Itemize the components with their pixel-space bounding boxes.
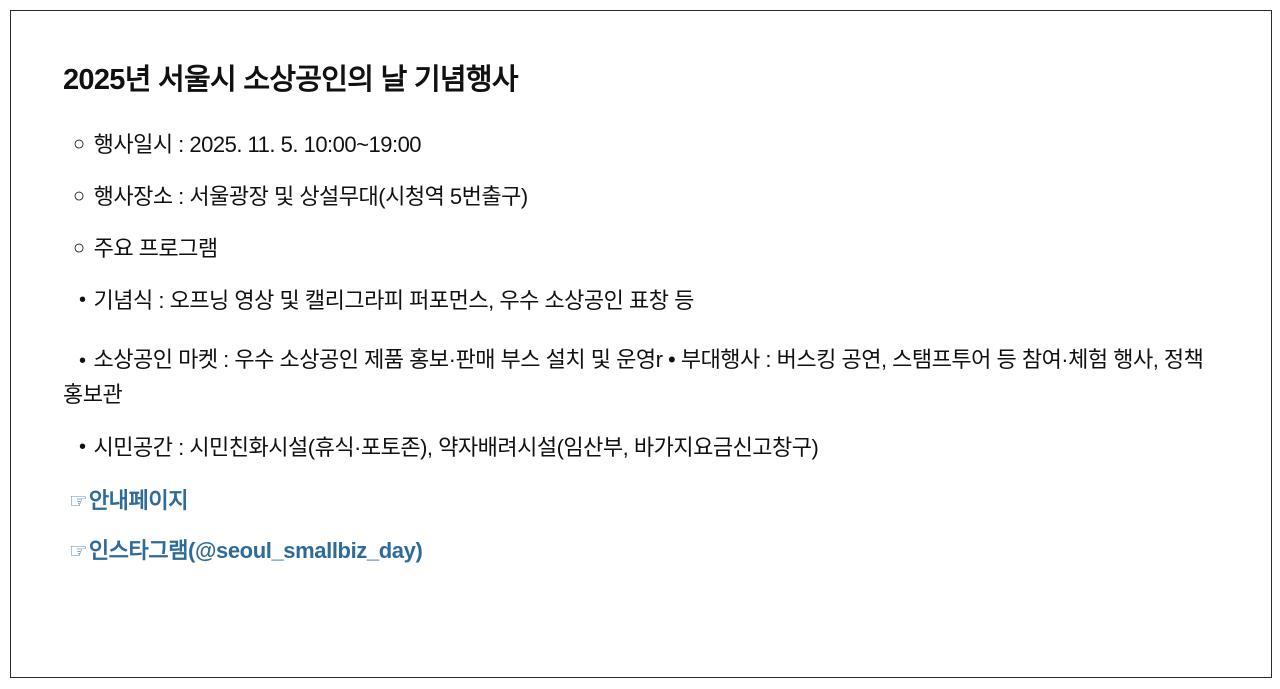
program-item-ceremony: • 기념식 : 오프닝 영상 및 캘리그라피 퍼포먼스, 우수 소상공인 표창 …: [63, 290, 1249, 312]
link-instagram[interactable]: 인스타그램(@seoul_smallbiz_day): [89, 539, 423, 563]
circle-marker-icon: ○: [73, 238, 85, 259]
link-guide-page[interactable]: 안내페이지: [89, 489, 188, 513]
info-row-date-text: 행사일시 : 2025. 11. 5. 10:00~19:00: [94, 134, 421, 156]
link-row-guide-page[interactable]: ☞ 안내페이지: [63, 489, 1249, 513]
info-row-programs-heading-text: 주요 프로그램: [94, 238, 218, 260]
program-item-citizen-space: • 시민공간 : 시민친화시설(휴식·포토존), 약자배려시설(임산부, 바가지…: [63, 437, 1249, 459]
info-row-venue: ○ 행사장소 : 서울광장 및 상설무대(시청역 5번출구): [63, 186, 1249, 208]
info-row-venue-text: 행사장소 : 서울광장 및 상설무대(시청역 5번출구): [94, 186, 528, 208]
pointing-hand-icon: ☞: [69, 541, 88, 562]
program-item-market: •소상공인 마켓 : 우수 소상공인 제품 홍보·판매 부스 설치 및 운영r …: [63, 342, 1223, 413]
document-frame: 2025년 서울시 소상공인의 날 기념행사 ○ 행사일시 : 2025. 11…: [10, 10, 1272, 678]
circle-marker-icon: ○: [73, 186, 85, 207]
bullet-marker-icon: •: [79, 345, 86, 377]
bullet-marker-icon: •: [79, 290, 86, 310]
link-row-instagram[interactable]: ☞ 인스타그램(@seoul_smallbiz_day): [63, 539, 1249, 563]
page-title: 2025년 서울시 소상공인의 날 기념행사: [63, 63, 1249, 98]
program-item-market-text: 소상공인 마켓 : 우수 소상공인 제품 홍보·판매 부스 설치 및 운영r •…: [63, 347, 1203, 408]
info-row-programs-heading: ○ 주요 프로그램: [63, 238, 1249, 260]
bullet-marker-icon: •: [79, 437, 86, 457]
info-row-date: ○ 행사일시 : 2025. 11. 5. 10:00~19:00: [63, 134, 1249, 156]
document-body: 2025년 서울시 소상공인의 날 기념행사 ○ 행사일시 : 2025. 11…: [11, 11, 1271, 677]
program-item-ceremony-text: 기념식 : 오프닝 영상 및 캘리그라피 퍼포먼스, 우수 소상공인 표창 등: [94, 290, 694, 312]
circle-marker-icon: ○: [73, 134, 85, 155]
program-item-citizen-space-text: 시민공간 : 시민친화시설(휴식·포토존), 약자배려시설(임산부, 바가지요금…: [94, 437, 819, 459]
pointing-hand-icon: ☞: [69, 491, 88, 512]
